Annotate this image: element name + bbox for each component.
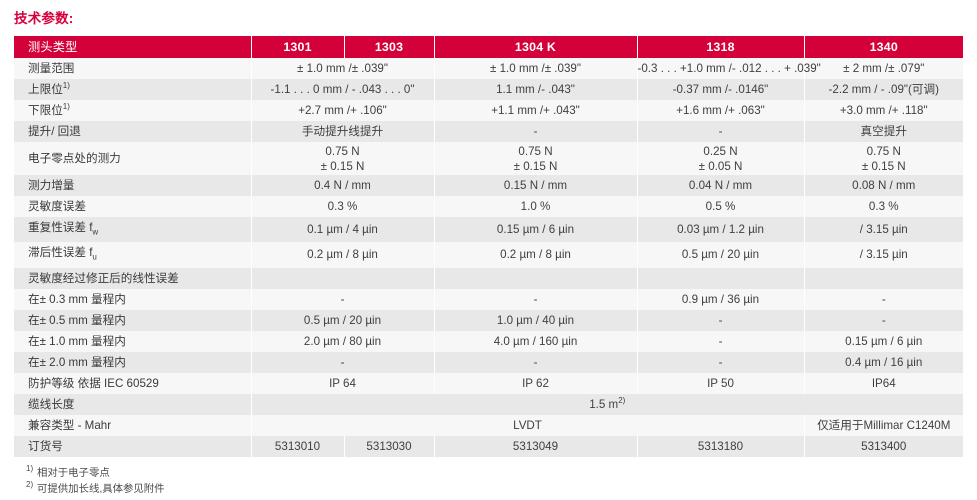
table-cell: 0.9 µm / 36 µin [637, 289, 804, 310]
table-cell: 0.2 µm / 8 µin [434, 242, 637, 267]
table-row: 订货号53130105313030531304953131805313400 [14, 436, 963, 457]
table-cell: 1.1 mm /- .043" [434, 79, 637, 100]
cell-line-2: ± 0.05 N [638, 159, 804, 174]
table-cell [637, 268, 804, 289]
table-cell: 0.2 µm / 8 µin [251, 242, 434, 267]
row-label: 测量范围 [14, 58, 251, 79]
table-row: 电子零点处的测力0.75 N± 0.15 N0.75 N± 0.15 N0.25… [14, 142, 963, 175]
footnote-text: 可提供加长线,具体参见附件 [37, 484, 165, 495]
row-label: 在± 1.0 mm 量程内 [14, 331, 251, 352]
table-cell: IP64 [804, 373, 963, 394]
cell-line-1: 0.75 N [805, 144, 964, 159]
table-cell: 0.03 µm / 1.2 µin [637, 217, 804, 242]
table-cell: 1.0 µm / 40 µin [434, 310, 637, 331]
column-header-1301: 1301 [251, 36, 344, 58]
table-cell: ± 2 mm /± .079" [804, 58, 963, 79]
table-cell: 4.0 µm / 160 µin [434, 331, 637, 352]
footnote: 1)相对于电子零点 [26, 466, 963, 482]
table-cell: +2.7 mm /+ .106" [251, 100, 434, 121]
row-label: 上限位1) [14, 79, 251, 100]
table-cell: +3.0 mm /+ .118" [804, 100, 963, 121]
table-cell: 0.4 µm / 16 µin [804, 352, 963, 373]
table-cell: LVDT [251, 415, 804, 436]
table-cell: / 3.15 µin [804, 217, 963, 242]
technical-specifications-table: 测头类型 1301 1303 1304 K 1318 1340 测量范围± 1.… [14, 36, 963, 457]
table-row: 灵敏度经过修正后的线性误差 [14, 268, 963, 289]
table-body: 测量范围± 1.0 mm /± .039"± 1.0 mm /± .039"-0… [14, 58, 963, 457]
table-cell: 5313180 [637, 436, 804, 457]
table-cell: 0.5 µm / 20 µin [637, 242, 804, 267]
row-label: 提升/ 回退 [14, 121, 251, 142]
table-cell: 0.15 µm / 6 µin [434, 217, 637, 242]
table-row: 在± 0.3 mm 量程内--0.9 µm / 36 µin- [14, 289, 963, 310]
table-cell: -0.37 mm /- .0146" [637, 79, 804, 100]
table-cell [804, 268, 963, 289]
table-row: 在± 1.0 mm 量程内2.0 µm / 80 µin4.0 µm / 160… [14, 331, 963, 352]
table-cell: - [251, 289, 434, 310]
table-cell: 5313400 [804, 436, 963, 457]
row-label: 下限位1) [14, 100, 251, 121]
cell-line-1: 0.75 N [252, 144, 434, 159]
column-header-1318: 1318 [637, 36, 804, 58]
table-cell: ± 1.0 mm /± .039" [251, 58, 434, 79]
table-row: 缆线长度1.5 m2) [14, 394, 963, 415]
cell-line-1: 0.25 N [638, 144, 804, 159]
row-label: 灵敏度误差 [14, 196, 251, 217]
row-label: 重复性误差 fw [14, 217, 251, 242]
table-row: 提升/ 回退手动提升线提升--真空提升 [14, 121, 963, 142]
row-label: 滞后性误差 fu [14, 242, 251, 267]
table-cell: IP 64 [251, 373, 434, 394]
table-cell: - [637, 352, 804, 373]
table-cell: -2.2 mm / - .09"(可调) [804, 79, 963, 100]
footnote: 2)可提供加长线,具体参见附件 [26, 482, 963, 498]
table-cell: 5313049 [434, 436, 637, 457]
table-cell: 0.1 µm / 4 µin [251, 217, 434, 242]
table-cell: +1.1 mm /+ .043" [434, 100, 637, 121]
row-label: 灵敏度经过修正后的线性误差 [14, 268, 251, 289]
table-cell: - [637, 310, 804, 331]
table-cell: - [804, 310, 963, 331]
table-cell: IP 62 [434, 373, 637, 394]
row-label: 缆线长度 [14, 394, 251, 415]
table-row: 在± 2.0 mm 量程内---0.4 µm / 16 µin [14, 352, 963, 373]
table-cell: 5313030 [344, 436, 434, 457]
table-cell: 0.15 N / mm [434, 175, 637, 196]
table-cell: - [434, 121, 637, 142]
table-cell: - [434, 289, 637, 310]
table-cell: - [637, 121, 804, 142]
table-cell: 真空提升 [804, 121, 963, 142]
table-cell: -1.1 . . . 0 mm / - .043 . . . 0" [251, 79, 434, 100]
table-row: 下限位1)+2.7 mm /+ .106"+1.1 mm /+ .043"+1.… [14, 100, 963, 121]
footnote-text: 相对于电子零点 [37, 468, 110, 479]
table-row: 测量范围± 1.0 mm /± .039"± 1.0 mm /± .039"-0… [14, 58, 963, 79]
table-cell: 0.5 µm / 20 µin [251, 310, 434, 331]
cell-line-1: 0.75 N [435, 144, 637, 159]
spec-sheet-page: 技术参数: 测头类型 1301 1303 1304 K 1318 1340 测量… [0, 0, 977, 500]
table-cell: 0.25 N± 0.05 N [637, 142, 804, 175]
table-row: 灵敏度误差0.3 %1.0 %0.5 %0.3 % [14, 196, 963, 217]
table-row: 滞后性误差 fu0.2 µm / 8 µin0.2 µm / 8 µin0.5 … [14, 242, 963, 267]
table-cell: ± 1.0 mm /± .039" [434, 58, 637, 79]
table-cell: 0.75 N± 0.15 N [804, 142, 963, 175]
footnote-marker: 1) [63, 81, 70, 90]
row-label: 在± 2.0 mm 量程内 [14, 352, 251, 373]
table-cell: 1.5 m2) [251, 394, 963, 415]
table-cell: 2.0 µm / 80 µin [251, 331, 434, 352]
table-row: 测力增量0.4 N / mm0.15 N / mm0.04 N / mm0.08… [14, 175, 963, 196]
table-cell: +1.6 mm /+ .063" [637, 100, 804, 121]
footnote-marker: 2) [618, 396, 625, 405]
table-row: 上限位1)-1.1 . . . 0 mm / - .043 . . . 0"1.… [14, 79, 963, 100]
table-cell: / 3.15 µin [804, 242, 963, 267]
row-label: 在± 0.3 mm 量程内 [14, 289, 251, 310]
column-header-1340: 1340 [804, 36, 963, 58]
table-cell [434, 268, 637, 289]
table-cell: 仅适用于Millimar C1240M [804, 415, 963, 436]
table-row: 在± 0.5 mm 量程内0.5 µm / 20 µin1.0 µm / 40 … [14, 310, 963, 331]
table-cell: - [804, 289, 963, 310]
table-cell: - [434, 352, 637, 373]
column-header-1303: 1303 [344, 36, 434, 58]
table-row: 兼容类型 - MahrLVDT仅适用于Millimar C1240M [14, 415, 963, 436]
table-cell: 0.4 N / mm [251, 175, 434, 196]
table-cell: -0.3 . . . +1.0 mm /- .012 . . . + .039" [637, 58, 804, 79]
footnote-marker: 1) [63, 102, 70, 111]
table-cell: 1.0 % [434, 196, 637, 217]
page-title: 技术参数: [14, 0, 963, 36]
table-header: 测头类型 1301 1303 1304 K 1318 1340 [14, 36, 963, 58]
cell-line-2: ± 0.15 N [252, 159, 434, 174]
table-cell: IP 50 [637, 373, 804, 394]
table-row: 重复性误差 fw0.1 µm / 4 µin0.15 µm / 6 µin0.0… [14, 217, 963, 242]
table-header-row: 测头类型 1301 1303 1304 K 1318 1340 [14, 36, 963, 58]
column-header-probe-type: 测头类型 [14, 36, 251, 58]
column-header-1304k: 1304 K [434, 36, 637, 58]
table-cell: 0.08 N / mm [804, 175, 963, 196]
table-cell: 0.3 % [251, 196, 434, 217]
cell-line-2: ± 0.15 N [435, 159, 637, 174]
cell-line-2: ± 0.15 N [805, 159, 964, 174]
row-label: 订货号 [14, 436, 251, 457]
table-cell: - [251, 352, 434, 373]
table-cell: 0.15 µm / 6 µin [804, 331, 963, 352]
footnotes: 1)相对于电子零点2)可提供加长线,具体参见附件 [14, 466, 963, 498]
table-cell: - [637, 331, 804, 352]
row-label: 防护等级 依据 IEC 60529 [14, 373, 251, 394]
row-label: 测力增量 [14, 175, 251, 196]
row-label: 兼容类型 - Mahr [14, 415, 251, 436]
table-cell: 0.04 N / mm [637, 175, 804, 196]
row-label: 在± 0.5 mm 量程内 [14, 310, 251, 331]
table-row: 防护等级 依据 IEC 60529IP 64IP 62IP 50IP64 [14, 373, 963, 394]
table-cell: 手动提升线提升 [251, 121, 434, 142]
table-cell: 0.3 % [804, 196, 963, 217]
table-cell: 0.5 % [637, 196, 804, 217]
table-cell [251, 268, 434, 289]
row-label: 电子零点处的测力 [14, 142, 251, 175]
table-cell: 0.75 N± 0.15 N [251, 142, 434, 175]
table-cell: 0.75 N± 0.15 N [434, 142, 637, 175]
table-cell: 5313010 [251, 436, 344, 457]
